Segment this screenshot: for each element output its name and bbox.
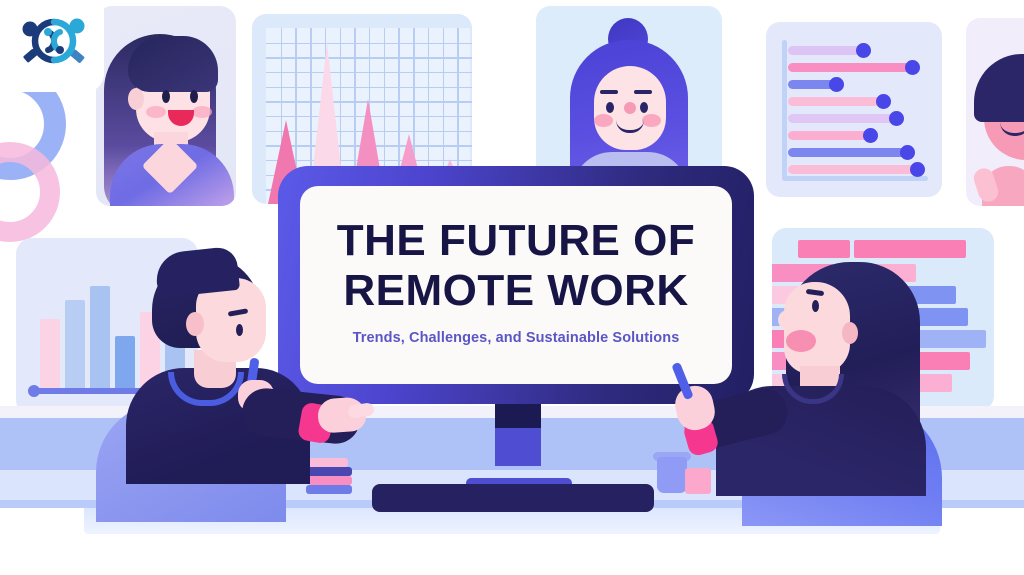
eye-right — [190, 90, 198, 103]
lollipop-dot — [905, 60, 920, 75]
hair — [974, 54, 1024, 122]
video-tile-woman-left — [96, 6, 236, 206]
bar-C — [90, 286, 110, 390]
ear — [128, 88, 144, 110]
book — [308, 458, 348, 467]
page-subtitle: Trends, Challenges, and Sustainable Solu… — [300, 330, 732, 346]
grid-line-h — [266, 57, 472, 58]
seated-woman-nose — [778, 310, 798, 330]
lollipop-dot — [829, 77, 844, 92]
seated-man-ear — [186, 312, 204, 336]
gantt-block — [798, 240, 850, 258]
blush-right — [642, 114, 661, 127]
video-tile-person-right — [966, 18, 1024, 206]
logo-badge — [0, 0, 104, 92]
page-title-line-1: THE FUTURE OF — [300, 216, 732, 266]
lollipop-dot — [876, 94, 891, 109]
bar-B — [65, 300, 85, 390]
bar-D — [115, 336, 135, 390]
x-axis — [782, 176, 928, 181]
lollipop-dot — [856, 43, 871, 58]
eye-left — [606, 102, 614, 113]
grid-line-h — [266, 43, 472, 44]
y-axis — [782, 40, 787, 179]
lollipop-dot — [889, 111, 904, 126]
lollipop-dot — [900, 145, 915, 160]
seated-woman-eye — [812, 300, 819, 312]
seated-woman-blush — [786, 330, 816, 352]
blush-right — [192, 106, 212, 118]
brow-right — [634, 90, 652, 94]
eye-left — [162, 90, 170, 103]
book — [308, 476, 352, 485]
seated-woman-ear — [842, 322, 858, 344]
book — [306, 467, 352, 476]
eye-right — [640, 102, 648, 113]
book — [306, 485, 352, 494]
brow-left — [600, 90, 618, 94]
coffee-cup — [657, 457, 687, 493]
grid-line-h — [266, 87, 472, 88]
gantt-block — [854, 240, 966, 258]
slide-canvas: THE FUTURE OF REMOTE WORK Trends, Challe… — [0, 0, 1024, 575]
lollipop-dot — [863, 128, 878, 143]
lollipop-bar — [788, 97, 883, 106]
lollipop-dot — [910, 162, 925, 177]
page-title-line-2: REMOTE WORK — [300, 266, 732, 316]
hair-front — [128, 36, 218, 92]
circular-swirl-logo[interactable] — [18, 14, 90, 68]
video-tile-woman-center — [536, 6, 722, 192]
chart-lollipop — [766, 22, 942, 197]
bar-A — [40, 319, 60, 390]
lollipop-bar — [788, 63, 912, 72]
lollipop-bar — [788, 131, 870, 140]
lollipop-bar — [788, 148, 907, 157]
lollipop-bar — [788, 114, 896, 123]
nose — [624, 102, 636, 114]
eye-left — [1006, 92, 1014, 104]
sticky-note — [685, 468, 711, 494]
seated-man-eye — [236, 324, 243, 336]
axis-cap — [28, 385, 40, 397]
monitor-neck-lower — [495, 428, 541, 466]
lollipop-bar — [788, 46, 863, 55]
blush-left — [594, 114, 613, 127]
blush-left — [146, 106, 166, 118]
lollipop-bar — [788, 165, 917, 174]
keyboard — [372, 484, 654, 512]
monitor-screen[interactable]: THE FUTURE OF REMOTE WORK Trends, Challe… — [300, 186, 732, 384]
grid-line-h — [266, 72, 472, 73]
